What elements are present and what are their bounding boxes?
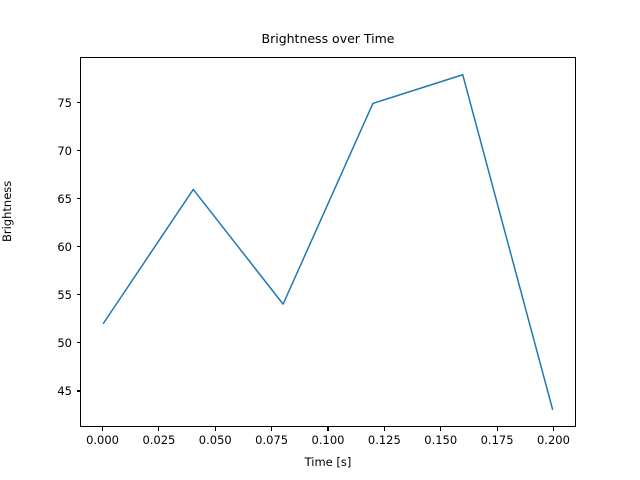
x-tick-label: 0.025 [142,433,175,447]
y-tick-label: 45 [34,384,72,398]
x-tick-label: 0.175 [481,433,514,447]
line-series-brightness [81,58,575,426]
x-tick-mark [215,427,216,431]
y-tick-mark [77,198,81,199]
y-tick-label: 60 [34,240,72,254]
x-tick-label: 0.075 [255,433,288,447]
x-tick-label: 0.050 [199,433,232,447]
y-tick-mark [77,342,81,343]
matplotlib-figure: Brightness over Time 0.0000.0250.0500.07… [0,0,640,480]
plot-area [80,57,576,427]
x-tick-label: 0.000 [86,433,119,447]
y-tick-label: 70 [34,144,72,158]
y-tick-label: 50 [34,336,72,350]
y-axis-label: Brightness [0,181,14,242]
x-tick-mark [102,427,103,431]
y-tick-mark [77,294,81,295]
x-tick-mark [553,427,554,431]
y-tick-label: 55 [34,288,72,302]
y-tick-mark [77,102,81,103]
x-tick-mark [384,427,385,431]
x-tick-mark [497,427,498,431]
x-tick-mark [327,427,328,431]
x-tick-label: 0.125 [368,433,401,447]
y-tick-mark [77,246,81,247]
x-tick-label: 0.100 [312,433,345,447]
x-tick-mark [158,427,159,431]
x-axis-label: Time [s] [80,455,576,469]
data-line [103,75,552,410]
chart-title: Brightness over Time [80,30,576,48]
y-tick-label: 65 [34,192,72,206]
x-tick-mark [271,427,272,431]
x-tick-mark [440,427,441,431]
y-tick-mark [77,150,81,151]
x-tick-label: 0.200 [537,433,570,447]
y-tick-label: 75 [34,96,72,110]
y-tick-mark [77,390,81,391]
x-tick-label: 0.150 [424,433,457,447]
